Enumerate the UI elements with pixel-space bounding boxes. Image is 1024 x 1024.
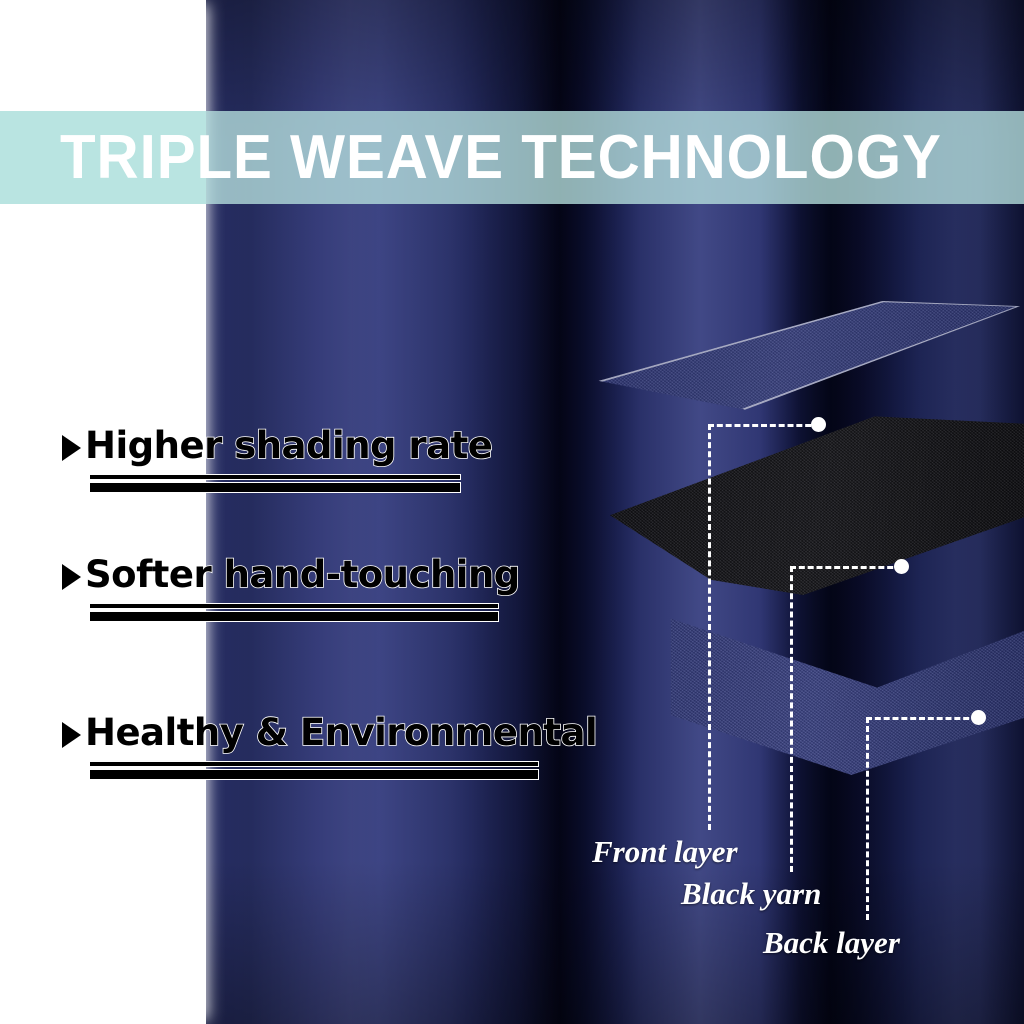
leader-line-black-vertical [790,566,793,872]
triangle-right-icon [62,722,81,748]
feature-row-2: Softer hand-touching [62,553,520,596]
callout-dot-back-layer [971,710,986,725]
feature-row-3: Healthy & Environmental [62,711,597,754]
triangle-right-icon [62,564,81,590]
feature-underline-2 [89,603,499,622]
feature-item-1: Higher shading rate [62,424,492,493]
diagram-label-back-layer: Back layer [763,925,900,961]
diagram-label-black-yarn: Black yarn [681,876,821,912]
callout-dot-black-yarn [894,559,909,574]
callout-dot-front-layer [811,417,826,432]
feature-item-2: Softer hand-touching [62,553,520,622]
product-infographic: TRIPLE WEAVE TECHNOLOGY Higher shading r… [0,0,1024,1024]
leader-line-front-vertical [708,424,711,830]
feature-label-2: Softer hand-touching [85,553,520,596]
feature-item-3: Healthy & Environmental [62,711,597,780]
feature-label-3: Healthy & Environmental [85,711,597,754]
triangle-right-icon [62,435,81,461]
feature-underline-1 [89,474,461,493]
leader-line-back-vertical [866,717,869,920]
banner: TRIPLE WEAVE TECHNOLOGY [0,111,1024,204]
feature-label-1: Higher shading rate [85,424,492,467]
banner-title: TRIPLE WEAVE TECHNOLOGY [60,127,942,189]
feature-row-1: Higher shading rate [62,424,492,467]
diagram-label-front-layer: Front layer [592,834,738,870]
leader-line-back-horizontal [866,717,978,720]
underline-thick-3 [89,769,539,780]
underline-thin-2 [89,603,499,609]
underline-thick-1 [89,482,461,493]
feature-underline-3 [89,761,539,780]
fabric-layer-diagram [590,295,1024,815]
underline-thin-1 [89,474,461,480]
underline-thick-2 [89,611,499,622]
underline-thin-3 [89,761,539,767]
leader-line-black-horizontal [790,566,902,569]
leader-line-front-horizontal [708,424,820,427]
